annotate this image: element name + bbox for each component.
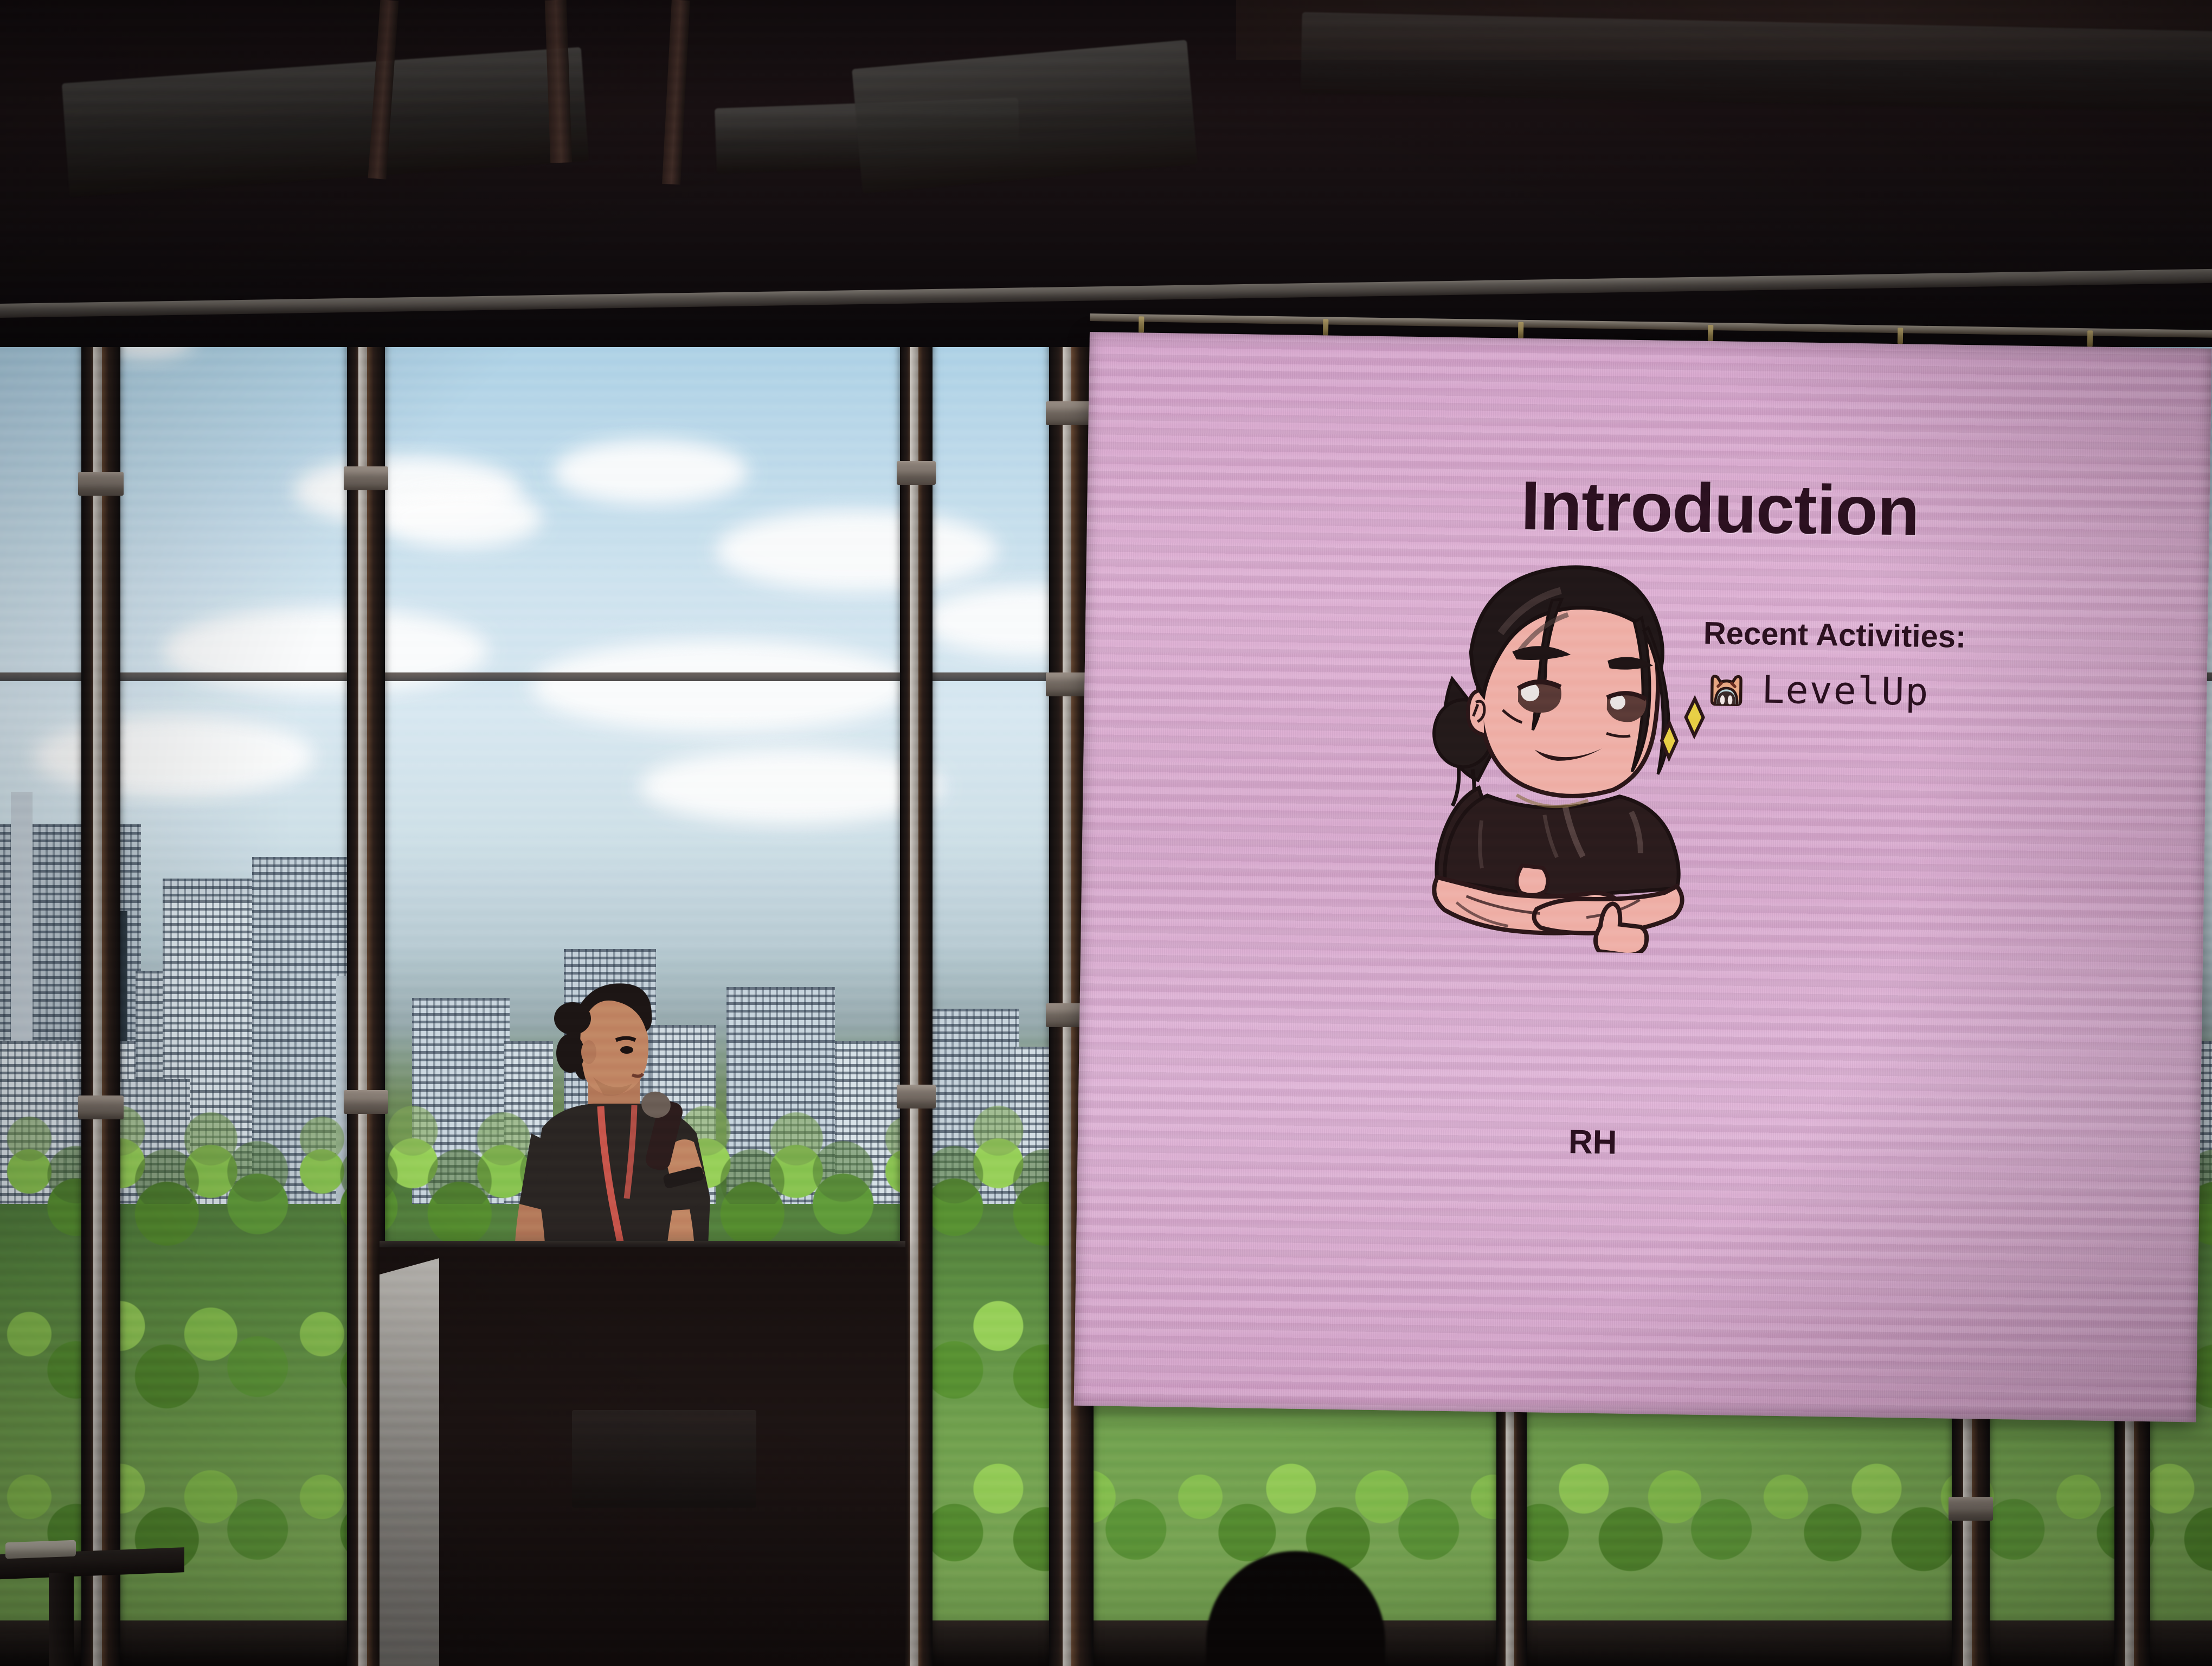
podium-confidence-monitor bbox=[572, 1410, 756, 1508]
recent-activities-label: Recent Activities: bbox=[1703, 615, 1966, 655]
ceiling-hanger-3 bbox=[662, 0, 690, 185]
chibi-avatar-illustration bbox=[1384, 515, 1727, 954]
ceiling-duct-right bbox=[852, 40, 1198, 193]
slide-surface: Introduction Recent Activities: LevelUp bbox=[1074, 332, 2212, 1422]
screen-hook bbox=[1708, 325, 1713, 341]
screenshot-root: Introduction Recent Activities: LevelUp bbox=[0, 0, 2212, 1666]
window-mullion-1 bbox=[81, 304, 120, 1666]
ceiling-duct-left bbox=[62, 47, 589, 197]
screen-hook bbox=[1518, 322, 1523, 338]
screen-hook bbox=[1139, 316, 1144, 332]
screen-hook bbox=[1898, 328, 1903, 344]
screen-hook bbox=[2087, 330, 2093, 347]
levelup-entry: LevelUp bbox=[1705, 667, 1930, 714]
podium-side-panel bbox=[380, 1258, 439, 1666]
screen-hook bbox=[1323, 319, 1328, 335]
foreground-side-table bbox=[0, 1551, 184, 1666]
speaker-initials-caption: RH bbox=[1568, 1123, 1617, 1162]
projection-screen: Introduction Recent Activities: LevelUp bbox=[1074, 332, 2212, 1422]
levelup-brand-name: LevelUp bbox=[1761, 667, 1930, 714]
window-sill bbox=[0, 1620, 2212, 1666]
